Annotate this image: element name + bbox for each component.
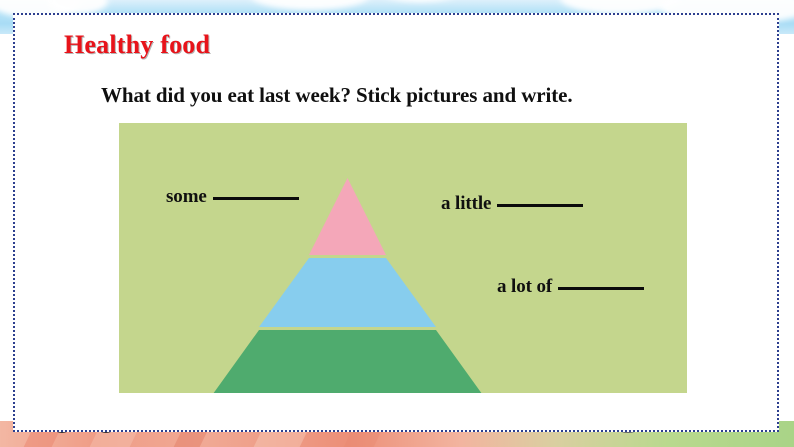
activity-panel: some a little a lot of	[119, 123, 687, 393]
pyramid-tier-bottom	[205, 330, 490, 393]
label-a-little-text: a little	[441, 193, 491, 214]
pyramid-tier-top	[309, 178, 386, 255]
label-some: some	[166, 186, 299, 208]
pyramid-tier-middle	[259, 258, 436, 327]
label-a-lot-of-text: a lot of	[497, 276, 552, 297]
blank-line-a-little[interactable]	[497, 193, 583, 207]
blank-line-a-lot-of[interactable]	[558, 276, 644, 290]
label-some-text: some	[166, 186, 207, 207]
label-a-lot-of: a lot of	[497, 276, 644, 298]
cloud-icon	[250, 0, 370, 10]
task-prompt: What did you eat last week? Stick pictur…	[101, 83, 573, 108]
content-frame: Healthy food What did you eat last week?…	[13, 13, 779, 432]
food-pyramid-graphic	[119, 123, 687, 393]
cloud-icon	[380, 0, 460, 2]
label-a-little: a little	[441, 193, 583, 215]
page-title: Healthy food	[64, 30, 210, 60]
blank-line-some[interactable]	[213, 186, 299, 200]
slide-canvas: Healthy food What did you eat last week?…	[0, 0, 794, 447]
